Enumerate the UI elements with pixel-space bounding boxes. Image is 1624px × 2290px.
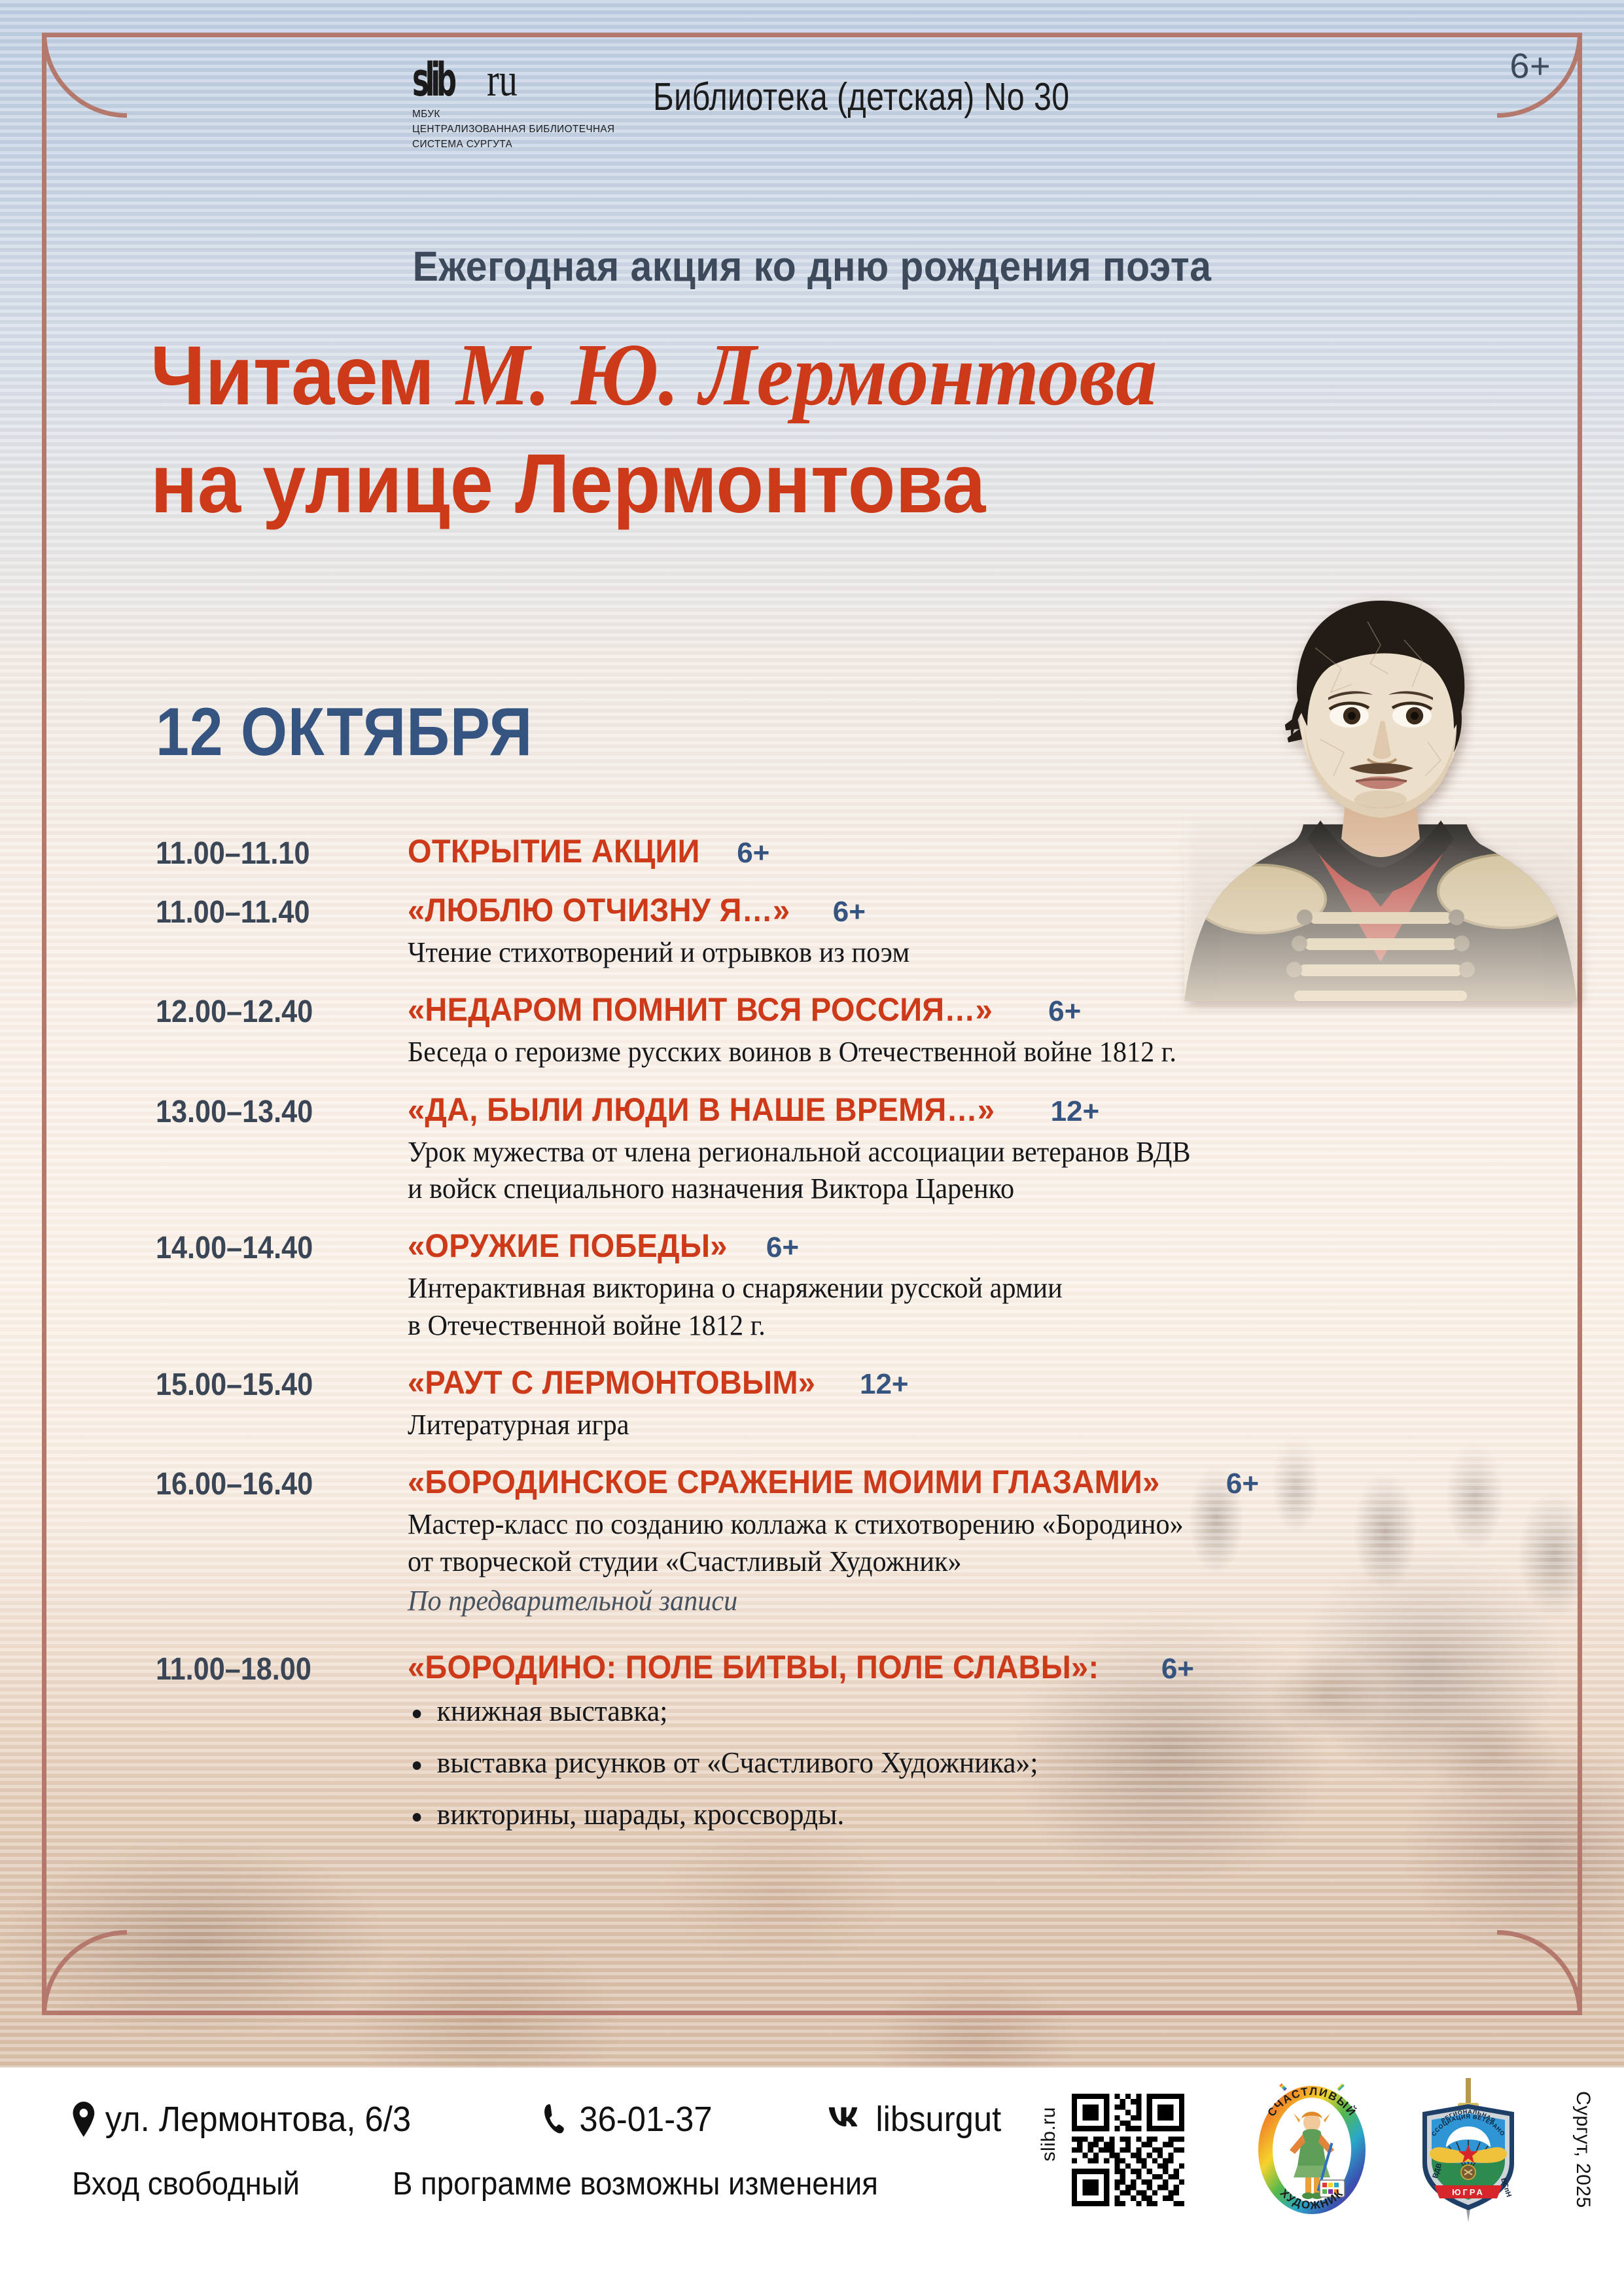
schedule-age-badge: 6+ (766, 1231, 799, 1264)
schedule-body: «БОРОДИНСКОЕ СРАЖЕНИЕ МОИМИ ГЛАЗАМИ» 6+ … (408, 1463, 1543, 1619)
schedule-age-badge: 6+ (1048, 995, 1081, 1028)
title-prefix: Читаем (150, 329, 456, 423)
vdv-ribbon-text: ЮГРА (1452, 2187, 1485, 2197)
phone-icon (542, 2104, 569, 2135)
logo-subtitle: МБУК ЦЕНТРАЛИЗОВАННАЯ БИБЛИОТЕЧНАЯ СИСТЕ… (412, 107, 615, 152)
schedule-bullet-list: книжная выставка; выставка рисунков от «… (408, 1697, 1543, 1829)
schedule-body: «ЛЮБЛЮ ОТЧИЗНУ Я…» 6+ Чтение стихотворен… (408, 891, 1543, 971)
partner-logo-vdv-veterans: ЮГРА РЕГИОНАЛЬНАЯ АССОЦИАЦИЯ ВЕТЕРАНОВ В… (1405, 2077, 1531, 2223)
program-disclaimer: В программе возможны изменения (393, 2166, 878, 2202)
schedule-row: 11.00–18.00 «БОРОДИНО: ПОЛЕ БИТВЫ, ПОЛЕ … (156, 1648, 1543, 1852)
map-pin-icon (72, 2102, 96, 2137)
vk-handle: libsurgut (876, 2099, 1002, 2140)
schedule-row: 16.00–16.40 «БОРОДИНСКОЕ СРАЖЕНИЕ МОИМИ … (156, 1463, 1543, 1619)
schedule-row: 12.00–12.40 «НЕДАРОМ ПОМНИТ ВСЯ РОССИЯ…»… (156, 991, 1543, 1070)
logo-domain-text: ru (487, 59, 518, 101)
header: slib ru МБУК ЦЕНТРАЛИЗОВАННАЯ БИБЛИОТЕЧН… (412, 59, 1161, 152)
schedule-age-badge: 12+ (1051, 1095, 1100, 1128)
branch-title: Библиотека (детская) No 30 (653, 75, 1070, 119)
schedule-body: «РАУТ С ЛЕРМОНТОВЫМ» 12+ Литературная иг… (408, 1364, 1543, 1443)
schedule-description: Беседа о героизме русских воинов в Отече… (408, 1034, 1498, 1070)
schedule-description: Мастер-класс по созданию коллажа к стихо… (408, 1506, 1498, 1580)
schedule-title: «ЛЮБЛЮ ОТЧИЗНУ Я…» (408, 891, 790, 929)
schedule-headline: ОТКРЫТИЕ АКЦИИ 6+ (408, 832, 1543, 870)
schedule-description: Литературная игра (408, 1407, 1498, 1443)
schedule-time: 13.00–13.40 (156, 1091, 383, 1130)
age-rating-badge: 6+ (1509, 46, 1551, 86)
schedule-time: 11.00–11.40 (156, 891, 383, 930)
kicker-text: Ежегодная акция ко дню рождения поэта (65, 242, 1559, 291)
schedule-headline: «ОРУЖИЕ ПОБЕДЫ» 6+ (408, 1227, 1543, 1265)
schedule-row: 14.00–14.40 «ОРУЖИЕ ПОБЕДЫ» 6+ Интеракти… (156, 1227, 1543, 1344)
library-logo: slib ru МБУК ЦЕНТРАЛИЗОВАННАЯ БИБЛИОТЕЧН… (412, 59, 623, 152)
free-entry-text: Вход свободный (72, 2166, 300, 2202)
schedule-time: 14.00–14.40 (156, 1227, 383, 1266)
footer: ул. Лермонтова, 6/3 36-01-37 libsurgut (0, 2068, 1624, 2290)
schedule-row: 15.00–15.40 «РАУТ С ЛЕРМОНТОВЫМ» 12+ Лит… (156, 1364, 1543, 1443)
schedule-title: «РАУТ С ЛЕРМОНТОВЫМ» (408, 1364, 815, 1401)
title-line-1: Читаем М. Ю. Лермонтова (150, 327, 1428, 423)
qr-code[interactable] (1072, 2094, 1184, 2206)
schedule-title: «ДА, БЫЛИ ЛЮДИ В НАШЕ ВРЕМЯ…» (408, 1091, 995, 1129)
schedule-headline: «БОРОДИНО: ПОЛЕ БИТВЫ, ПОЛЕ СЛАВЫ»: 6+ (408, 1648, 1543, 1686)
schedule-body: ОТКРЫТИЕ АКЦИИ 6+ (408, 832, 1543, 870)
list-item: книжная выставка; (408, 1697, 1509, 1726)
event-date: 12 ОКТЯБРЯ (156, 694, 533, 771)
footer-contacts: ул. Лермонтова, 6/3 36-01-37 libsurgut (72, 2099, 1012, 2140)
schedule-note: По предварительной записи (408, 1583, 1498, 1619)
slib-logo-icon: slib (412, 60, 453, 101)
schedule-time: 12.00–12.40 (156, 991, 383, 1030)
address-text: ул. Лермонтова, 6/3 (105, 2099, 411, 2140)
logo-row: slib ru (412, 59, 623, 101)
schedule-time: 16.00–16.40 (156, 1463, 383, 1502)
partner-logo-happy-artist: СЧАСТЛИВЫЙ ХУДОЖНИК (1246, 2082, 1377, 2218)
schedule-age-badge: 6+ (1226, 1468, 1259, 1500)
footer-notes: Вход свободный В программе возможны изме… (72, 2166, 915, 2202)
schedule-row: 13.00–13.40 «ДА, БЫЛИ ЛЮДИ В НАШЕ ВРЕМЯ…… (156, 1091, 1543, 1208)
schedule-headline: «РАУТ С ЛЕРМОНТОВЫМ» 12+ (408, 1364, 1543, 1401)
schedule-list: 11.00–11.10 ОТКРЫТИЕ АКЦИИ 6+ 11.00–11.4… (156, 832, 1543, 1871)
address-item: ул. Лермонтова, 6/3 (72, 2099, 411, 2140)
poster: 6+ slib ru МБУК ЦЕНТРАЛИЗОВАННАЯ БИБЛИОТ… (0, 0, 1624, 2290)
schedule-description: Чтение стихотворений и отрывков из поэм (408, 934, 1498, 971)
schedule-title: «БОРОДИНСКОЕ СРАЖЕНИЕ МОИМИ ГЛАЗАМИ» (408, 1463, 1160, 1501)
schedule-title: «БОРОДИНО: ПОЛЕ БИТВЫ, ПОЛЕ СЛАВЫ»: (408, 1648, 1099, 1686)
schedule-body: «ДА, БЫЛИ ЛЮДИ В НАШЕ ВРЕМЯ…» 12+ Урок м… (408, 1091, 1543, 1208)
schedule-title: «НЕДАРОМ ПОМНИТ ВСЯ РОССИЯ…» (408, 991, 993, 1029)
schedule-age-badge: 6+ (833, 896, 866, 928)
schedule-description: Интерактивная викторина о снаряжении рус… (408, 1270, 1498, 1344)
vk-item[interactable]: libsurgut (828, 2099, 1001, 2140)
schedule-title: ОТКРЫТИЕ АКЦИИ (408, 832, 700, 870)
vk-icon (828, 2105, 866, 2134)
page-title: Читаем М. Ю. Лермонтова на улице Лермонт… (150, 327, 1525, 529)
schedule-age-badge: 12+ (860, 1368, 909, 1401)
schedule-headline: «НЕДАРОМ ПОМНИТ ВСЯ РОССИЯ…» 6+ (408, 991, 1543, 1029)
qr-label: slib.ru (1038, 2107, 1060, 2162)
schedule-description: Урок мужества от члена региональной ассо… (408, 1134, 1498, 1208)
schedule-time: 11.00–11.10 (156, 832, 383, 872)
list-item: выставка рисунков от «Счастливого Художн… (408, 1748, 1509, 1778)
schedule-age-badge: 6+ (1161, 1653, 1194, 1685)
schedule-time: 11.00–18.00 (156, 1648, 383, 1687)
schedule-age-badge: 6+ (737, 837, 769, 870)
schedule-headline: «ДА, БЫЛИ ЛЮДИ В НАШЕ ВРЕМЯ…» 12+ (408, 1091, 1543, 1129)
schedule-headline: «БОРОДИНСКОЕ СРАЖЕНИЕ МОИМИ ГЛАЗАМИ» 6+ (408, 1463, 1543, 1501)
phone-item: 36-01-37 (542, 2099, 713, 2140)
phone-text: 36-01-37 (580, 2099, 713, 2140)
title-line-2: на улице Лермонтова (150, 439, 1428, 529)
list-item: викторины, шарады, кроссворды. (408, 1800, 1509, 1829)
schedule-time: 15.00–15.40 (156, 1364, 383, 1403)
schedule-title: «ОРУЖИЕ ПОБЕДЫ» (408, 1227, 728, 1265)
schedule-row: 11.00–11.10 ОТКРЫТИЕ АКЦИИ 6+ (156, 832, 1543, 872)
schedule-body: «НЕДАРОМ ПОМНИТ ВСЯ РОССИЯ…» 6+ Беседа о… (408, 991, 1543, 1070)
schedule-body: «ОРУЖИЕ ПОБЕДЫ» 6+ Интерактивная виктори… (408, 1227, 1543, 1344)
city-year-text: Сургут, 2025 (1572, 2091, 1594, 2208)
schedule-row: 11.00–11.40 «ЛЮБЛЮ ОТЧИЗНУ Я…» 6+ Чтение… (156, 891, 1543, 971)
schedule-headline: «ЛЮБЛЮ ОТЧИЗНУ Я…» 6+ (408, 891, 1543, 929)
schedule-body: «БОРОДИНО: ПОЛЕ БИТВЫ, ПОЛЕ СЛАВЫ»: 6+ к… (408, 1648, 1543, 1852)
title-poet-name: М. Ю. Лермонтова (456, 326, 1157, 424)
